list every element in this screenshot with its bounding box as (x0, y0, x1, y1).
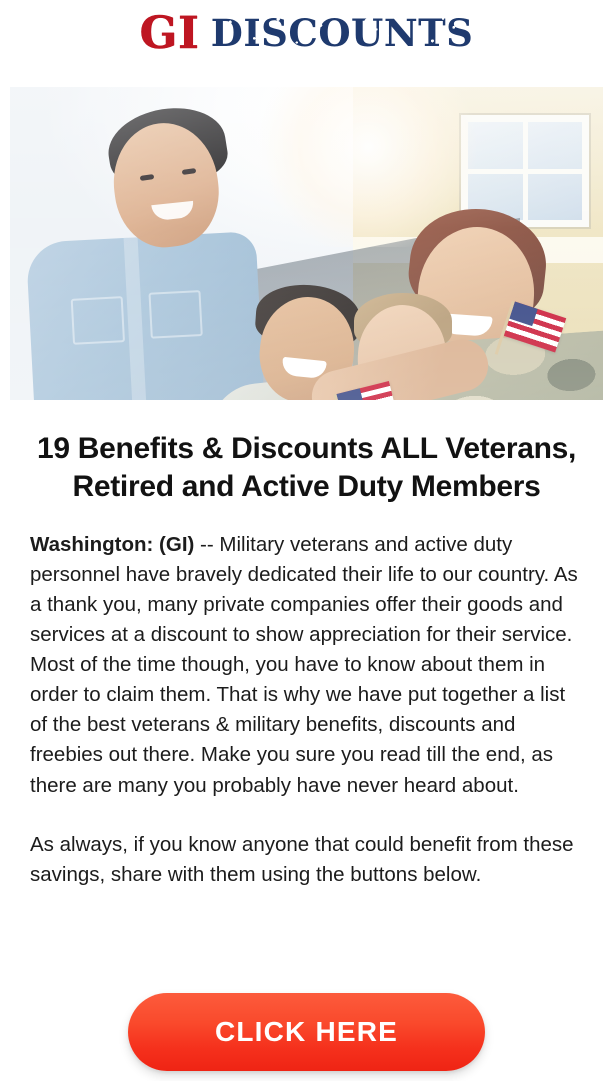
page-title: 19 Benefits & Discounts ALL Veterans, Re… (30, 430, 583, 506)
hero-image (10, 87, 603, 400)
logo-gi-text: GI (140, 12, 200, 56)
site-logo[interactable]: GI DISCOUNTS (140, 11, 474, 55)
click-here-button[interactable]: CLICK HERE (128, 993, 485, 1071)
logo-discounts-text: DISCOUNTS (211, 15, 474, 52)
article-paragraph-1-text: -- Military veterans and active duty per… (30, 533, 578, 797)
cta-container: CLICK HERE (0, 993, 613, 1071)
father-denim-shirt (26, 231, 265, 400)
article-paragraph-2: As always, if you know anyone that could… (30, 830, 583, 890)
article-dateline: Washington: (GI) (30, 533, 194, 556)
article-paragraph-1: Washington: (GI) -- Military veterans an… (30, 530, 583, 801)
shirt-placket (124, 237, 147, 400)
article-body: 19 Benefits & Discounts ALL Veterans, Re… (0, 400, 613, 890)
logo-discounts: DISCOUNTS (211, 15, 474, 52)
site-header: GI DISCOUNTS (0, 0, 613, 87)
shirt-pocket-left (71, 296, 125, 345)
shirt-pocket-right (148, 290, 202, 339)
